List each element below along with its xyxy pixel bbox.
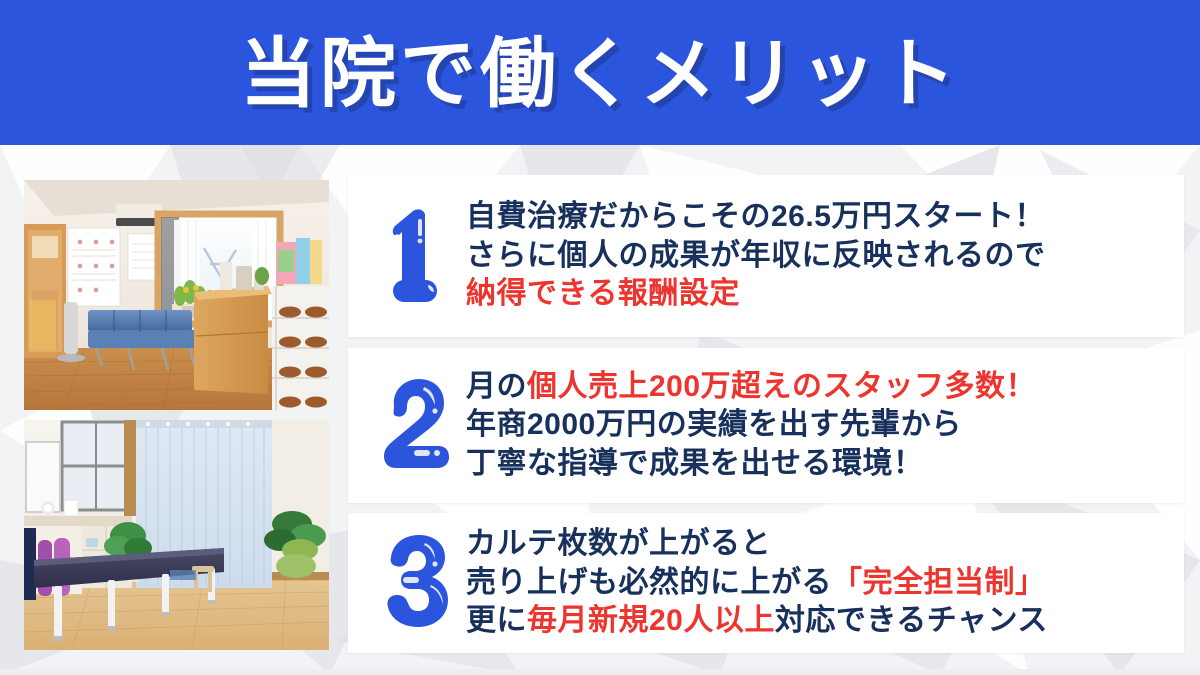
- numeral-3-icon: [379, 531, 453, 635]
- treatment-room-illustration: [24, 420, 329, 650]
- card-3-line-3-seg-3: 対応できるチャンス: [775, 604, 1048, 637]
- card-3-text: カルテ枚数が上がると 売り上げも必然的に上がる「完全担当制」 更に毎月新規20人…: [466, 525, 1184, 640]
- benefit-card-1: 自費治療だからこその26.5万円スタート！ さらに個人の成果が年収に反映されるの…: [348, 175, 1184, 337]
- card-2-line-2-seg-1: 年商2000万円の実績を出す先輩から: [466, 408, 962, 441]
- card-2-line-3: 丁寧な指導で成果を出せる環境！: [466, 445, 1172, 483]
- card-1-line-1-seg-1: 自費治療だからこその26.5万円スタート！: [466, 200, 1045, 233]
- slide-root: 当院で働くメリット: [0, 0, 1200, 675]
- card-number-2: [348, 374, 466, 478]
- card-3-line-1-seg-1: カルテ枚数が上がると: [466, 527, 771, 560]
- card-2-text: 月の個人売上200万超えのスタッフ多数！ 年商2000万円の実績を出す先輩から …: [466, 368, 1184, 483]
- card-2-line-1-seg-2: 個人売上200万超えのスタッフ多数！: [527, 370, 1036, 403]
- card-3-line-1: カルテ枚数が上がると: [466, 525, 1172, 563]
- card-number-1: [348, 204, 466, 308]
- bottom-strip: [0, 669, 1200, 675]
- card-3-line-3-seg-2: 毎月新規20人以上: [527, 604, 775, 637]
- page-title: 当院で働くメリット: [240, 37, 960, 113]
- waiting-room-photo: [24, 180, 329, 410]
- waiting-room-illustration: [24, 180, 329, 410]
- card-number-3: [348, 531, 466, 635]
- card-2-line-1-seg-1: 月の: [466, 370, 527, 403]
- benefit-card-2: 月の個人売上200万超えのスタッフ多数！ 年商2000万円の実績を出す先輩から …: [348, 348, 1184, 503]
- card-2-line-3-seg-1: 丁寧な指導で成果を出せる環境！: [466, 447, 924, 480]
- card-3-line-3: 更に毎月新規20人以上対応できるチャンス: [466, 602, 1172, 640]
- card-3-line-2-seg-1: 売り上げも必然的に上がる: [466, 566, 832, 599]
- card-1-line-2: さらに個人の成果が年収に反映されるので: [466, 237, 1172, 275]
- treatment-room-photo: [24, 420, 329, 650]
- card-2-line-2: 年商2000万円の実績を出す先輩から: [466, 406, 1172, 444]
- header-banner: 当院で働くメリット: [0, 0, 1200, 145]
- card-2-line-1: 月の個人売上200万超えのスタッフ多数！: [466, 368, 1172, 406]
- card-1-line-3-seg-1: 納得できる報酬設定: [466, 277, 740, 310]
- card-3-line-3-seg-1: 更に: [466, 604, 527, 637]
- card-3-line-2: 売り上げも必然的に上がる「完全担当制」: [466, 564, 1172, 602]
- card-1-line-2-seg-1: さらに個人の成果が年収に反映されるので: [466, 239, 1046, 272]
- card-3-line-2-seg-2: 「完全担当制」: [832, 566, 1046, 599]
- card-1-line-3: 納得できる報酬設定: [466, 275, 1172, 313]
- numeral-2-icon: [379, 374, 453, 478]
- benefit-card-3: カルテ枚数が上がると 売り上げも必然的に上がる「完全担当制」 更に毎月新規20人…: [348, 513, 1184, 653]
- numeral-1-icon: [379, 204, 453, 308]
- card-1-line-1: 自費治療だからこその26.5万円スタート！: [466, 198, 1172, 236]
- card-1-text: 自費治療だからこその26.5万円スタート！ さらに個人の成果が年収に反映されるの…: [466, 198, 1184, 313]
